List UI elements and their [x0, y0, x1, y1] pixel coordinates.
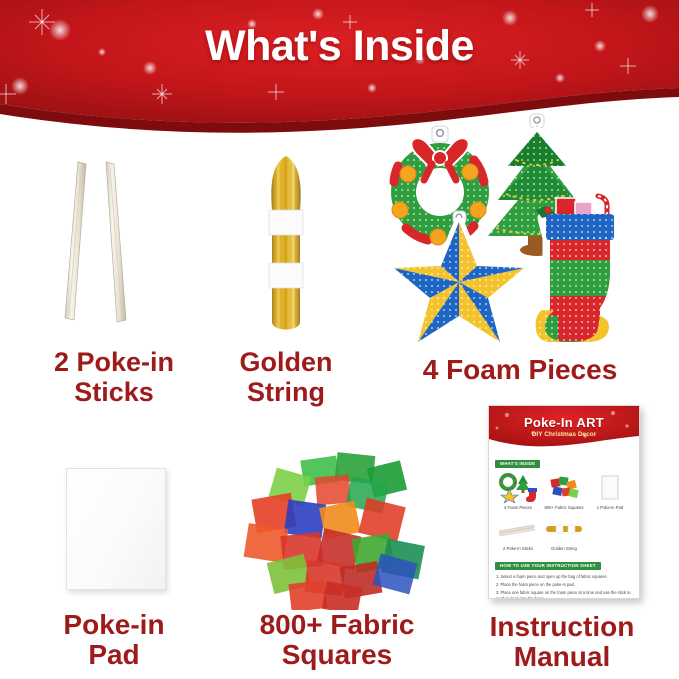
gold-thread-skein-icon: [226, 150, 346, 340]
item-poke-in-pad: Poke-in Pad: [24, 450, 204, 670]
caption-line2: Squares: [212, 640, 462, 670]
mini-pad-icon: [587, 472, 633, 504]
caption-line1: 800+ Fabric: [212, 610, 462, 640]
item-golden-string: Golden String: [196, 150, 376, 400]
manual-step: 3. Place one fabric square on the foam p…: [496, 590, 632, 599]
caption-line2: Pad: [24, 640, 204, 670]
manual-content-label: 800+ Fabric Squares: [541, 505, 587, 510]
foam-ornaments-icon: [370, 110, 670, 355]
mini-foam-pieces-icon: [495, 472, 541, 504]
mini-fabric-squares-icon: [541, 472, 587, 504]
item-foam-pieces: 4 Foam Pieces: [370, 110, 670, 400]
foam-wreath: [386, 126, 494, 246]
item-fabric-squares: 800+ Fabric Squares: [212, 440, 462, 670]
caption-line1: 2 Poke-in: [24, 348, 204, 377]
manual-logo: Poke-In ART: [489, 415, 639, 430]
mini-golden-string-icon: [541, 513, 587, 545]
page-title: What's Inside: [0, 22, 679, 71]
manual-subtitle: DIY Christmas Decor: [489, 431, 639, 438]
manual-content-item: 800+ Fabric Squares: [541, 472, 587, 510]
manual-section-contents: WHAT'S INSIDE: [495, 460, 540, 468]
manual-content-label: Golden String: [541, 546, 587, 551]
manual-content-label: 1 Poke-in Pad: [587, 505, 633, 510]
manual-header: Poke-In ART DIY Christmas Decor: [489, 406, 639, 452]
item-poke-in-sticks: 2 Poke-in Sticks: [24, 150, 204, 400]
manual-section-steps: HOW TO USE YOUR INSTRUCTION SHEET: [495, 562, 601, 570]
manual-contents-grid: 4 Foam Pieces 800+ Fabric Squares: [489, 470, 639, 554]
caption-line1: Instruction: [462, 612, 662, 642]
manual-content-item: 1 Poke-in Pad: [587, 472, 633, 510]
manual-content-item: 4 Foam Pieces: [495, 472, 541, 510]
manual-content-item: Golden String: [541, 513, 587, 551]
manual-content-item: 2 Poke-in Sticks: [495, 513, 541, 551]
caption-line2: Manual: [462, 642, 662, 672]
mini-sticks-icon: [495, 513, 541, 545]
caption-line2: Sticks: [24, 378, 204, 407]
manual-content-label: 2 Poke-in Sticks: [495, 546, 541, 551]
manual-step: 1. Select a foam piece and open up the b…: [496, 574, 632, 580]
caption-line1: Golden: [196, 348, 376, 377]
caption-line1: Poke-in: [24, 610, 204, 640]
instruction-sheet-icon: Poke-In ART DIY Christmas Decor WHAT'S I…: [488, 405, 640, 599]
item-instruction-manual: Poke-In ART DIY Christmas Decor WHAT'S I…: [462, 400, 662, 670]
foam-stocking: [534, 196, 614, 346]
white-foam-pad-icon: [66, 468, 166, 590]
manual-step: 2. Place the foam piece on the poke-in p…: [496, 582, 632, 588]
manual-content-spacer: [587, 513, 633, 551]
two-wooden-sticks-icon: [34, 150, 214, 340]
colored-fabric-squares-icon: [224, 450, 454, 610]
manual-content-label: 4 Foam Pieces: [495, 505, 541, 510]
caption-line1: 4 Foam Pieces: [370, 355, 670, 385]
caption-line2: String: [196, 378, 376, 407]
manual-steps: 1. Select a foam piece and open up the b…: [489, 572, 639, 599]
whats-inside-infographic: What's Inside 2 Poke-in Sticks: [0, 0, 679, 679]
